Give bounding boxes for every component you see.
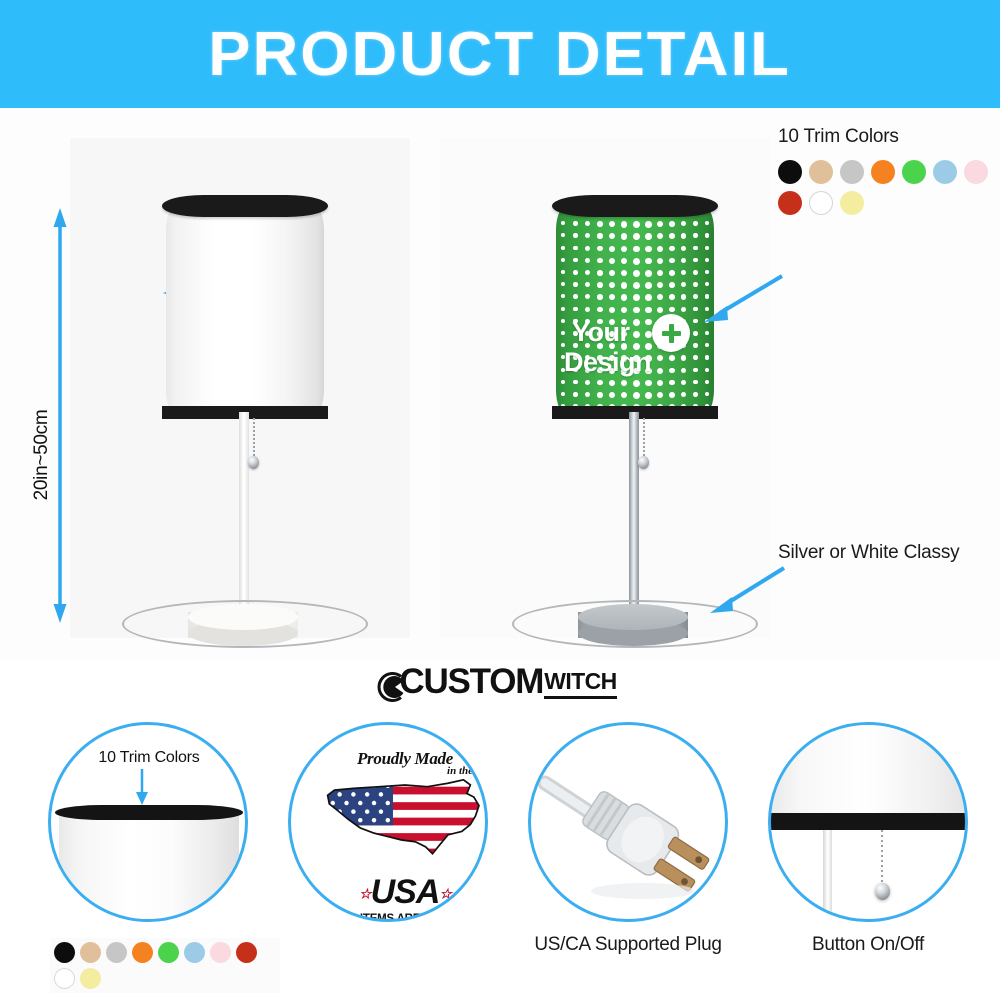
polka-dot <box>585 294 590 299</box>
polka-dot <box>561 307 565 311</box>
pull-chain <box>253 418 255 460</box>
trim-down-arrow-icon <box>134 769 150 805</box>
polka-dot <box>609 246 615 252</box>
polka-dot <box>669 294 675 300</box>
polka-dot <box>573 221 578 226</box>
polka-dot <box>573 282 578 287</box>
polka-dot <box>621 392 627 398</box>
trim-swatch-tan[interactable] <box>809 160 833 184</box>
polka-dot <box>609 221 615 227</box>
pull-chain-ball[interactable] <box>248 456 259 469</box>
polka-dot <box>609 392 615 398</box>
polka-dot <box>609 282 615 288</box>
polka-dot <box>645 233 652 240</box>
trim-swatch-black[interactable] <box>778 160 802 184</box>
polka-dot <box>705 380 709 384</box>
polka-dot <box>669 258 675 264</box>
polka-dot <box>621 307 627 313</box>
polka-dot <box>657 355 663 361</box>
polka-dot <box>693 368 698 373</box>
polka-dot <box>597 270 603 276</box>
polka-dot <box>681 368 686 373</box>
polka-dot <box>633 270 640 277</box>
polka-dot <box>681 294 686 299</box>
polka-dot <box>705 258 709 262</box>
base-finish-pointer-arrow-icon <box>700 560 792 620</box>
polka-dot <box>597 258 603 264</box>
trim-swatch-green[interactable] <box>902 160 926 184</box>
polka-dot <box>561 246 565 250</box>
polka-dot <box>573 233 578 238</box>
polka-dot <box>705 355 709 359</box>
pull-chain <box>643 418 645 460</box>
polka-dot <box>669 233 675 239</box>
polka-dot <box>621 221 627 227</box>
polka-dot <box>585 282 590 287</box>
polka-dot <box>597 233 603 239</box>
polka-dot <box>693 221 698 226</box>
polka-dot <box>705 392 709 396</box>
polka-dot <box>633 331 640 338</box>
polka-dot <box>705 331 709 335</box>
bottom-trim-swatch-yellow[interactable] <box>80 968 101 989</box>
bottom-trim-swatch-pink[interactable] <box>210 942 231 963</box>
polka-dot <box>633 221 640 228</box>
polka-dot <box>657 246 663 252</box>
badge-subtitle-text: ALL ITEMS ARE MADE TO ORDER! <box>319 913 488 922</box>
feature-trim-colors-circle[interactable]: 10 Trim Colors <box>48 722 248 922</box>
badge-usa-text: ☆USA☆ <box>319 873 488 912</box>
polka-dot <box>633 380 640 387</box>
polka-dot <box>585 392 590 397</box>
polka-dot <box>693 258 698 263</box>
product-detail-banner: PRODUCT DETAIL <box>0 0 1000 108</box>
polka-dot <box>693 233 698 238</box>
pull-chain-closeup <box>881 830 883 886</box>
polka-dot <box>573 246 578 251</box>
polka-dot <box>621 233 627 239</box>
polka-dot <box>669 246 675 252</box>
logo-witch-text: WITCH <box>544 668 616 695</box>
base-finish-label: Silver or White Classy <box>778 542 959 564</box>
polka-dot <box>573 258 578 263</box>
polka-dot <box>573 380 578 385</box>
feature-button-onoff-caption: Button On/Off <box>748 934 988 956</box>
logo-underline <box>544 696 616 699</box>
polka-dot <box>561 331 565 335</box>
polka-dot <box>597 380 603 386</box>
trim-color-swatch-list[interactable] <box>778 160 1000 215</box>
bottom-trim-swatch-light-blue[interactable] <box>184 942 205 963</box>
polka-dot <box>657 258 663 264</box>
polka-dot <box>657 294 663 300</box>
polka-dot <box>681 246 686 251</box>
trim-band-closeup <box>55 805 243 820</box>
feature-made-in-usa-circle[interactable]: Proudly Made in the <box>288 722 488 922</box>
polka-dot <box>681 221 686 226</box>
polka-dot <box>681 380 686 385</box>
polka-dot <box>681 307 686 312</box>
polka-dot <box>657 221 663 227</box>
trim-swatch-yellow[interactable] <box>840 191 864 215</box>
design-placeholder-line1: Your <box>572 318 630 346</box>
polka-dot <box>573 270 578 275</box>
polka-dot <box>645 270 652 277</box>
polka-dot <box>645 282 652 289</box>
product-showcase-stage: 7in~18cm 20in~50cm <box>0 108 1000 660</box>
polka-dot <box>657 233 663 239</box>
polka-dot <box>597 282 603 288</box>
trim-band-closeup <box>768 813 968 830</box>
feature-button-onoff-circle[interactable] <box>768 722 968 922</box>
polka-dot <box>669 355 675 361</box>
design-placeholder-line2: Design <box>564 348 651 376</box>
polka-dot <box>645 258 652 265</box>
trim-colors-pointer-arrow-icon <box>694 268 790 330</box>
polka-dot <box>705 368 709 372</box>
polka-dot <box>657 307 663 313</box>
polka-dot <box>705 221 709 225</box>
polka-dot <box>693 331 698 336</box>
plus-circle-icon[interactable] <box>652 314 690 352</box>
polka-dot <box>561 233 565 237</box>
feature-plug-circle[interactable] <box>528 722 728 922</box>
bottom-trim-swatch-green[interactable] <box>158 942 179 963</box>
polka-dot <box>657 368 663 374</box>
feature-plug-caption: US/CA Supported Plug <box>492 934 764 956</box>
polka-dot <box>561 270 565 274</box>
pole-closeup <box>823 830 832 922</box>
bottom-trim-swatch-black[interactable] <box>54 942 75 963</box>
polka-dot <box>609 258 615 264</box>
lamp-pole-white <box>239 412 249 618</box>
polka-dot <box>705 233 709 237</box>
trim-swatch-light-blue[interactable] <box>933 160 957 184</box>
polka-dot <box>633 319 640 326</box>
polka-dot <box>633 282 640 289</box>
polka-dot <box>561 221 565 225</box>
polka-dot <box>597 221 603 227</box>
polka-dot <box>609 233 615 239</box>
polka-dot <box>561 392 565 396</box>
star-right-icon: ☆ <box>439 886 451 902</box>
polka-dot <box>597 307 603 313</box>
pull-chain-ball[interactable] <box>638 456 649 469</box>
polka-dot <box>693 392 698 397</box>
polka-dot <box>585 258 590 263</box>
polka-dot-pattern <box>556 204 714 416</box>
bottom-trim-swatch-tan[interactable] <box>80 942 101 963</box>
polka-dot <box>633 392 640 399</box>
polka-dot <box>669 282 675 288</box>
trim-swatch-white[interactable] <box>809 191 833 215</box>
polka-dot <box>645 380 652 387</box>
polka-dot <box>669 368 675 374</box>
polka-dot <box>633 294 640 301</box>
polka-dot <box>561 319 565 323</box>
bottom-trim-swatch-orange[interactable] <box>132 942 153 963</box>
polka-dot <box>681 282 686 287</box>
trim-swatch-pink[interactable] <box>964 160 988 184</box>
shade-closeup <box>59 813 239 922</box>
polka-dot <box>645 331 652 338</box>
shade-bottom-closeup <box>768 725 968 813</box>
trim-swatch-gray[interactable] <box>840 160 864 184</box>
polka-dot <box>681 355 686 360</box>
shade-surface: Your Design <box>556 204 714 416</box>
polka-dot <box>681 392 686 397</box>
feature-made-in-usa: Proudly Made in the <box>288 722 488 922</box>
polka-dot <box>693 355 698 360</box>
polka-dot <box>609 380 615 386</box>
polka-dot <box>645 221 652 228</box>
lamp-pole-silver <box>629 412 639 618</box>
feature-plug: US/CA Supported Plug <box>528 722 728 922</box>
polka-dot <box>597 246 603 252</box>
polka-dot <box>597 392 603 398</box>
polka-dot <box>645 319 652 326</box>
polka-dot <box>585 221 590 226</box>
page-title: PRODUCT DETAIL <box>209 19 791 90</box>
polka-dot <box>609 294 615 300</box>
polka-dot <box>609 307 615 313</box>
polka-dot <box>681 258 686 263</box>
polka-dot <box>621 380 627 386</box>
polka-dot <box>669 380 675 386</box>
polka-dot <box>561 380 565 384</box>
polka-dot <box>633 307 640 314</box>
polka-dot <box>645 246 652 253</box>
feature-button-onoff: Button On/Off <box>768 722 968 922</box>
polka-dot <box>657 270 663 276</box>
shade-surface <box>166 204 324 416</box>
polka-dot <box>561 294 565 298</box>
polka-dot <box>681 233 686 238</box>
polka-dot <box>657 282 663 288</box>
polka-dot <box>669 270 675 276</box>
polka-dot <box>633 233 640 240</box>
polka-dot <box>681 270 686 275</box>
polka-dot <box>645 307 652 314</box>
star-left-icon: ☆ <box>359 886 371 902</box>
brand-logo: CUSTOM WITCH <box>0 662 1000 702</box>
polka-dot <box>585 270 590 275</box>
polka-dot <box>645 392 652 399</box>
polka-dot <box>657 380 663 386</box>
pull-chain-ball-closeup[interactable] <box>875 883 890 900</box>
trim-colors-callout: 10 Trim Colors <box>778 126 1000 215</box>
power-cord-ring <box>122 600 368 648</box>
polka-dot <box>573 294 578 299</box>
polka-dot <box>693 343 698 348</box>
polka-dot <box>657 392 663 398</box>
polka-dot <box>585 307 590 312</box>
polka-dot <box>573 392 578 397</box>
polka-dot <box>633 258 640 265</box>
logo-custom-text: CUSTOM <box>399 662 543 702</box>
trim-swatch-orange[interactable] <box>871 160 895 184</box>
bottom-trim-swatch-white[interactable] <box>54 968 75 989</box>
bottom-trim-color-swatches[interactable] <box>50 938 280 993</box>
polka-dot <box>621 270 627 276</box>
polka-dot <box>693 380 698 385</box>
polka-dot <box>633 246 640 253</box>
polka-dot <box>705 343 709 347</box>
polka-dot <box>705 246 709 250</box>
made-in-usa-badge: Proudly Made in the <box>319 749 488 922</box>
trim-colors-title: 10 Trim Colors <box>778 126 1000 148</box>
badge-in-the-text: in the <box>447 765 473 777</box>
shade-top-trim <box>162 195 328 217</box>
polka-dot <box>585 233 590 238</box>
polka-dot <box>573 307 578 312</box>
polka-dot <box>561 282 565 286</box>
trim-swatch-red[interactable] <box>778 191 802 215</box>
feature-trim-colors-label: 10 Trim Colors <box>69 749 229 767</box>
lamp-shade-white <box>166 204 324 416</box>
shade-top-trim <box>552 195 718 217</box>
bottom-trim-swatch-red[interactable] <box>236 942 257 963</box>
usa-flag-map-icon <box>319 771 488 866</box>
polka-dot <box>669 221 675 227</box>
polka-dot <box>693 246 698 251</box>
polka-dot <box>669 392 675 398</box>
polka-dot <box>621 258 627 264</box>
polka-dot <box>585 380 590 385</box>
polka-dot <box>669 307 675 313</box>
feature-trim-colors: 10 Trim Colors <box>48 722 248 922</box>
height-dimension-arrow-icon <box>52 208 68 623</box>
polka-dot <box>585 246 590 251</box>
polka-dot <box>621 282 627 288</box>
polka-dot <box>621 294 627 300</box>
bottom-trim-swatch-gray[interactable] <box>106 942 127 963</box>
polka-dot <box>561 258 565 262</box>
polka-dot <box>621 246 627 252</box>
polka-dot <box>597 294 603 300</box>
lamp-shade-green: Your Design <box>556 204 714 416</box>
height-dimension-label: 20in~50cm <box>31 360 53 550</box>
us-plug-icon <box>531 725 728 922</box>
polka-dot <box>645 294 652 301</box>
polka-dot <box>609 270 615 276</box>
